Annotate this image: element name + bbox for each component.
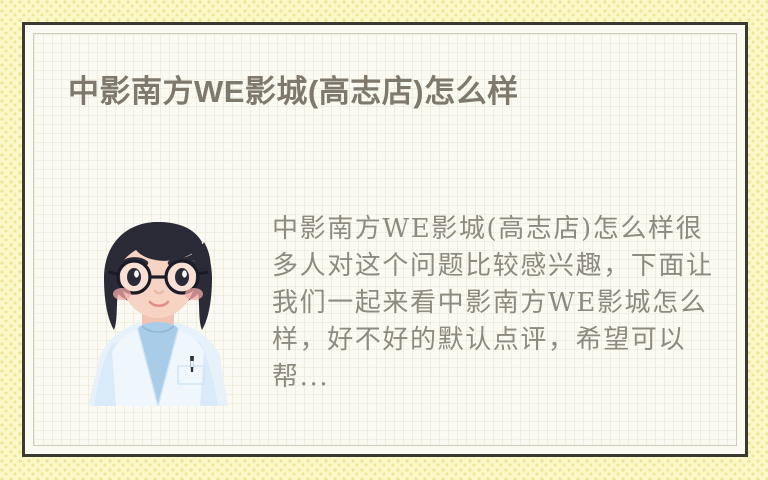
article-card-frame: 中影南方WE影城(高志店)怎么样 — [22, 22, 748, 457]
article-summary-text: 中影南方WE影城(高志店)怎么样很多人对这个问题比较感兴趣，下面让我们一起来看中… — [272, 211, 724, 396]
page-title: 中影南方WE影城(高志店)怎么样 — [68, 74, 519, 110]
head — [104, 222, 212, 330]
article-card: 中影南方WE影城(高志店)怎么样 — [33, 33, 737, 446]
lab-coat — [88, 308, 228, 406]
article-content: 中影南方WE影城(高志店)怎么样很多人对这个问题比较感兴趣，下面让我们一起来看中… — [34, 199, 736, 414]
page-background: 中影南方WE影城(高志店)怎么样 — [0, 0, 768, 480]
doctor-avatar-illustration — [82, 216, 234, 406]
